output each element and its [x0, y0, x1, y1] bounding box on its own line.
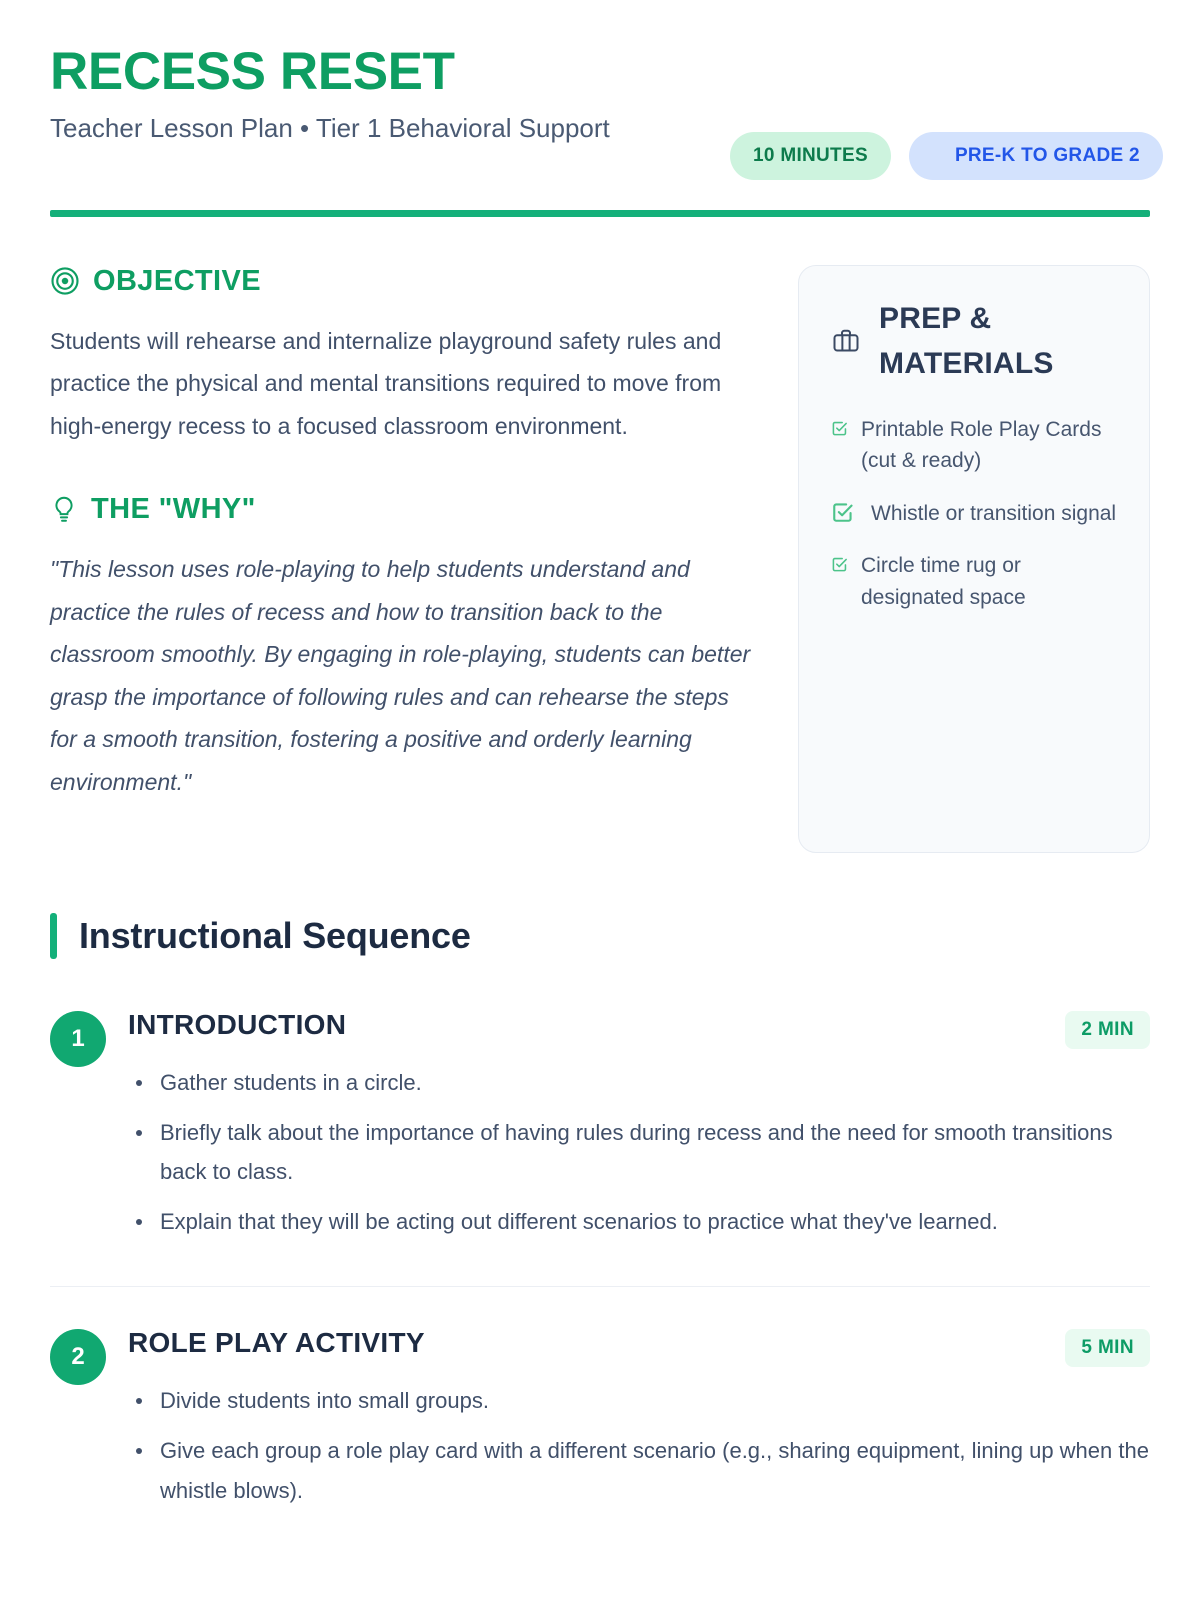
why-heading-row: THE "WHY": [50, 493, 754, 526]
list-item: Give each group a role play card with a …: [128, 1431, 1150, 1509]
lightbulb-icon: [50, 495, 78, 525]
step-duration-badge: 5 MIN: [1065, 1329, 1150, 1367]
page-title: RECESS RESET: [50, 44, 610, 100]
step-title: INTRODUCTION: [128, 1009, 346, 1041]
instructional-sequence-section: Instructional Sequence 1 INTRODUCTION 2 …: [50, 853, 1150, 1555]
lesson-plan-page: RECESS RESET Teacher Lesson Plan • Tier …: [0, 0, 1200, 1600]
grade-level-badge: PRE-K TO GRADE 2: [909, 132, 1163, 180]
checkbox-check-icon: [831, 550, 848, 573]
prep-heading-row: PREP & MATERIALS: [827, 296, 1121, 386]
prep-item-label: Printable Role Play Cards (cut & ready): [861, 414, 1121, 477]
main-column: OBJECTIVE Students will rehearse and int…: [50, 265, 754, 804]
step-number-badge: 1: [50, 1011, 106, 1067]
checkbox-check-icon: [831, 498, 854, 524]
list-item: Circle time rug or designated space: [827, 550, 1121, 613]
list-item: Divide students into small groups.: [128, 1381, 1150, 1420]
list-item: Printable Role Play Cards (cut & ready): [827, 414, 1121, 477]
why-heading: THE "WHY": [91, 493, 256, 526]
step-bullet-list: Gather students in a circle. Briefly tal…: [128, 1063, 1150, 1242]
target-icon: [50, 266, 80, 296]
accent-bar: [50, 913, 57, 959]
why-section: THE "WHY" "This lesson uses role-playing…: [50, 493, 754, 803]
briefcase-icon: [831, 326, 861, 356]
main-content-grid: OBJECTIVE Students will rehearse and int…: [50, 217, 1150, 853]
list-item: Briefly talk about the importance of hav…: [128, 1113, 1150, 1191]
header-divider-rule: [50, 210, 1150, 217]
prep-heading: PREP & MATERIALS: [879, 296, 1121, 386]
header-title-block: RECESS RESET Teacher Lesson Plan • Tier …: [50, 44, 610, 147]
prep-item-label: Whistle or transition signal: [867, 498, 1116, 530]
prep-item-label: Circle time rug or designated space: [861, 550, 1121, 613]
checkbox-check-icon: [831, 414, 848, 437]
prep-materials-card: PREP & MATERIALS Printable Role Play Car…: [798, 265, 1150, 853]
page-subtitle: Teacher Lesson Plan • Tier 1 Behavioral …: [50, 110, 610, 147]
objective-heading-row: OBJECTIVE: [50, 265, 754, 298]
step-duration-badge: 2 MIN: [1065, 1011, 1150, 1049]
objective-text: Students will rehearse and internalize p…: [50, 320, 754, 448]
step-body: INTRODUCTION 2 MIN Gather students in a …: [128, 1009, 1150, 1253]
step-bullet-list: Divide students into small groups. Give …: [128, 1381, 1150, 1509]
step-header-row: INTRODUCTION 2 MIN: [128, 1009, 1150, 1049]
sequence-heading-row: Instructional Sequence: [50, 913, 1150, 959]
duration-badge: 10 MINUTES: [730, 132, 891, 180]
objective-heading: OBJECTIVE: [93, 265, 261, 298]
step-title: ROLE PLAY ACTIVITY: [128, 1327, 425, 1359]
prep-materials-list: Printable Role Play Cards (cut & ready) …: [827, 414, 1121, 614]
step-number-badge: 2: [50, 1329, 106, 1385]
objective-section: OBJECTIVE Students will rehearse and int…: [50, 265, 754, 448]
document-header: RECESS RESET Teacher Lesson Plan • Tier …: [50, 44, 1150, 202]
header-badge-group: 10 MINUTES PRE-K TO GRADE 2: [730, 44, 1150, 180]
why-text: "This lesson uses role-playing to help s…: [50, 548, 754, 803]
step-body: ROLE PLAY ACTIVITY 5 MIN Divide students…: [128, 1327, 1150, 1520]
side-column: PREP & MATERIALS Printable Role Play Car…: [798, 265, 1150, 853]
step-header-row: ROLE PLAY ACTIVITY 5 MIN: [128, 1327, 1150, 1367]
sequence-step: 2 ROLE PLAY ACTIVITY 5 MIN Divide studen…: [50, 1286, 1150, 1554]
list-item: Whistle or transition signal: [827, 498, 1121, 530]
sequence-heading: Instructional Sequence: [79, 915, 471, 957]
list-item: Gather students in a circle.: [128, 1063, 1150, 1102]
sequence-step: 1 INTRODUCTION 2 MIN Gather students in …: [50, 1009, 1150, 1287]
list-item: Explain that they will be acting out dif…: [128, 1202, 1150, 1241]
